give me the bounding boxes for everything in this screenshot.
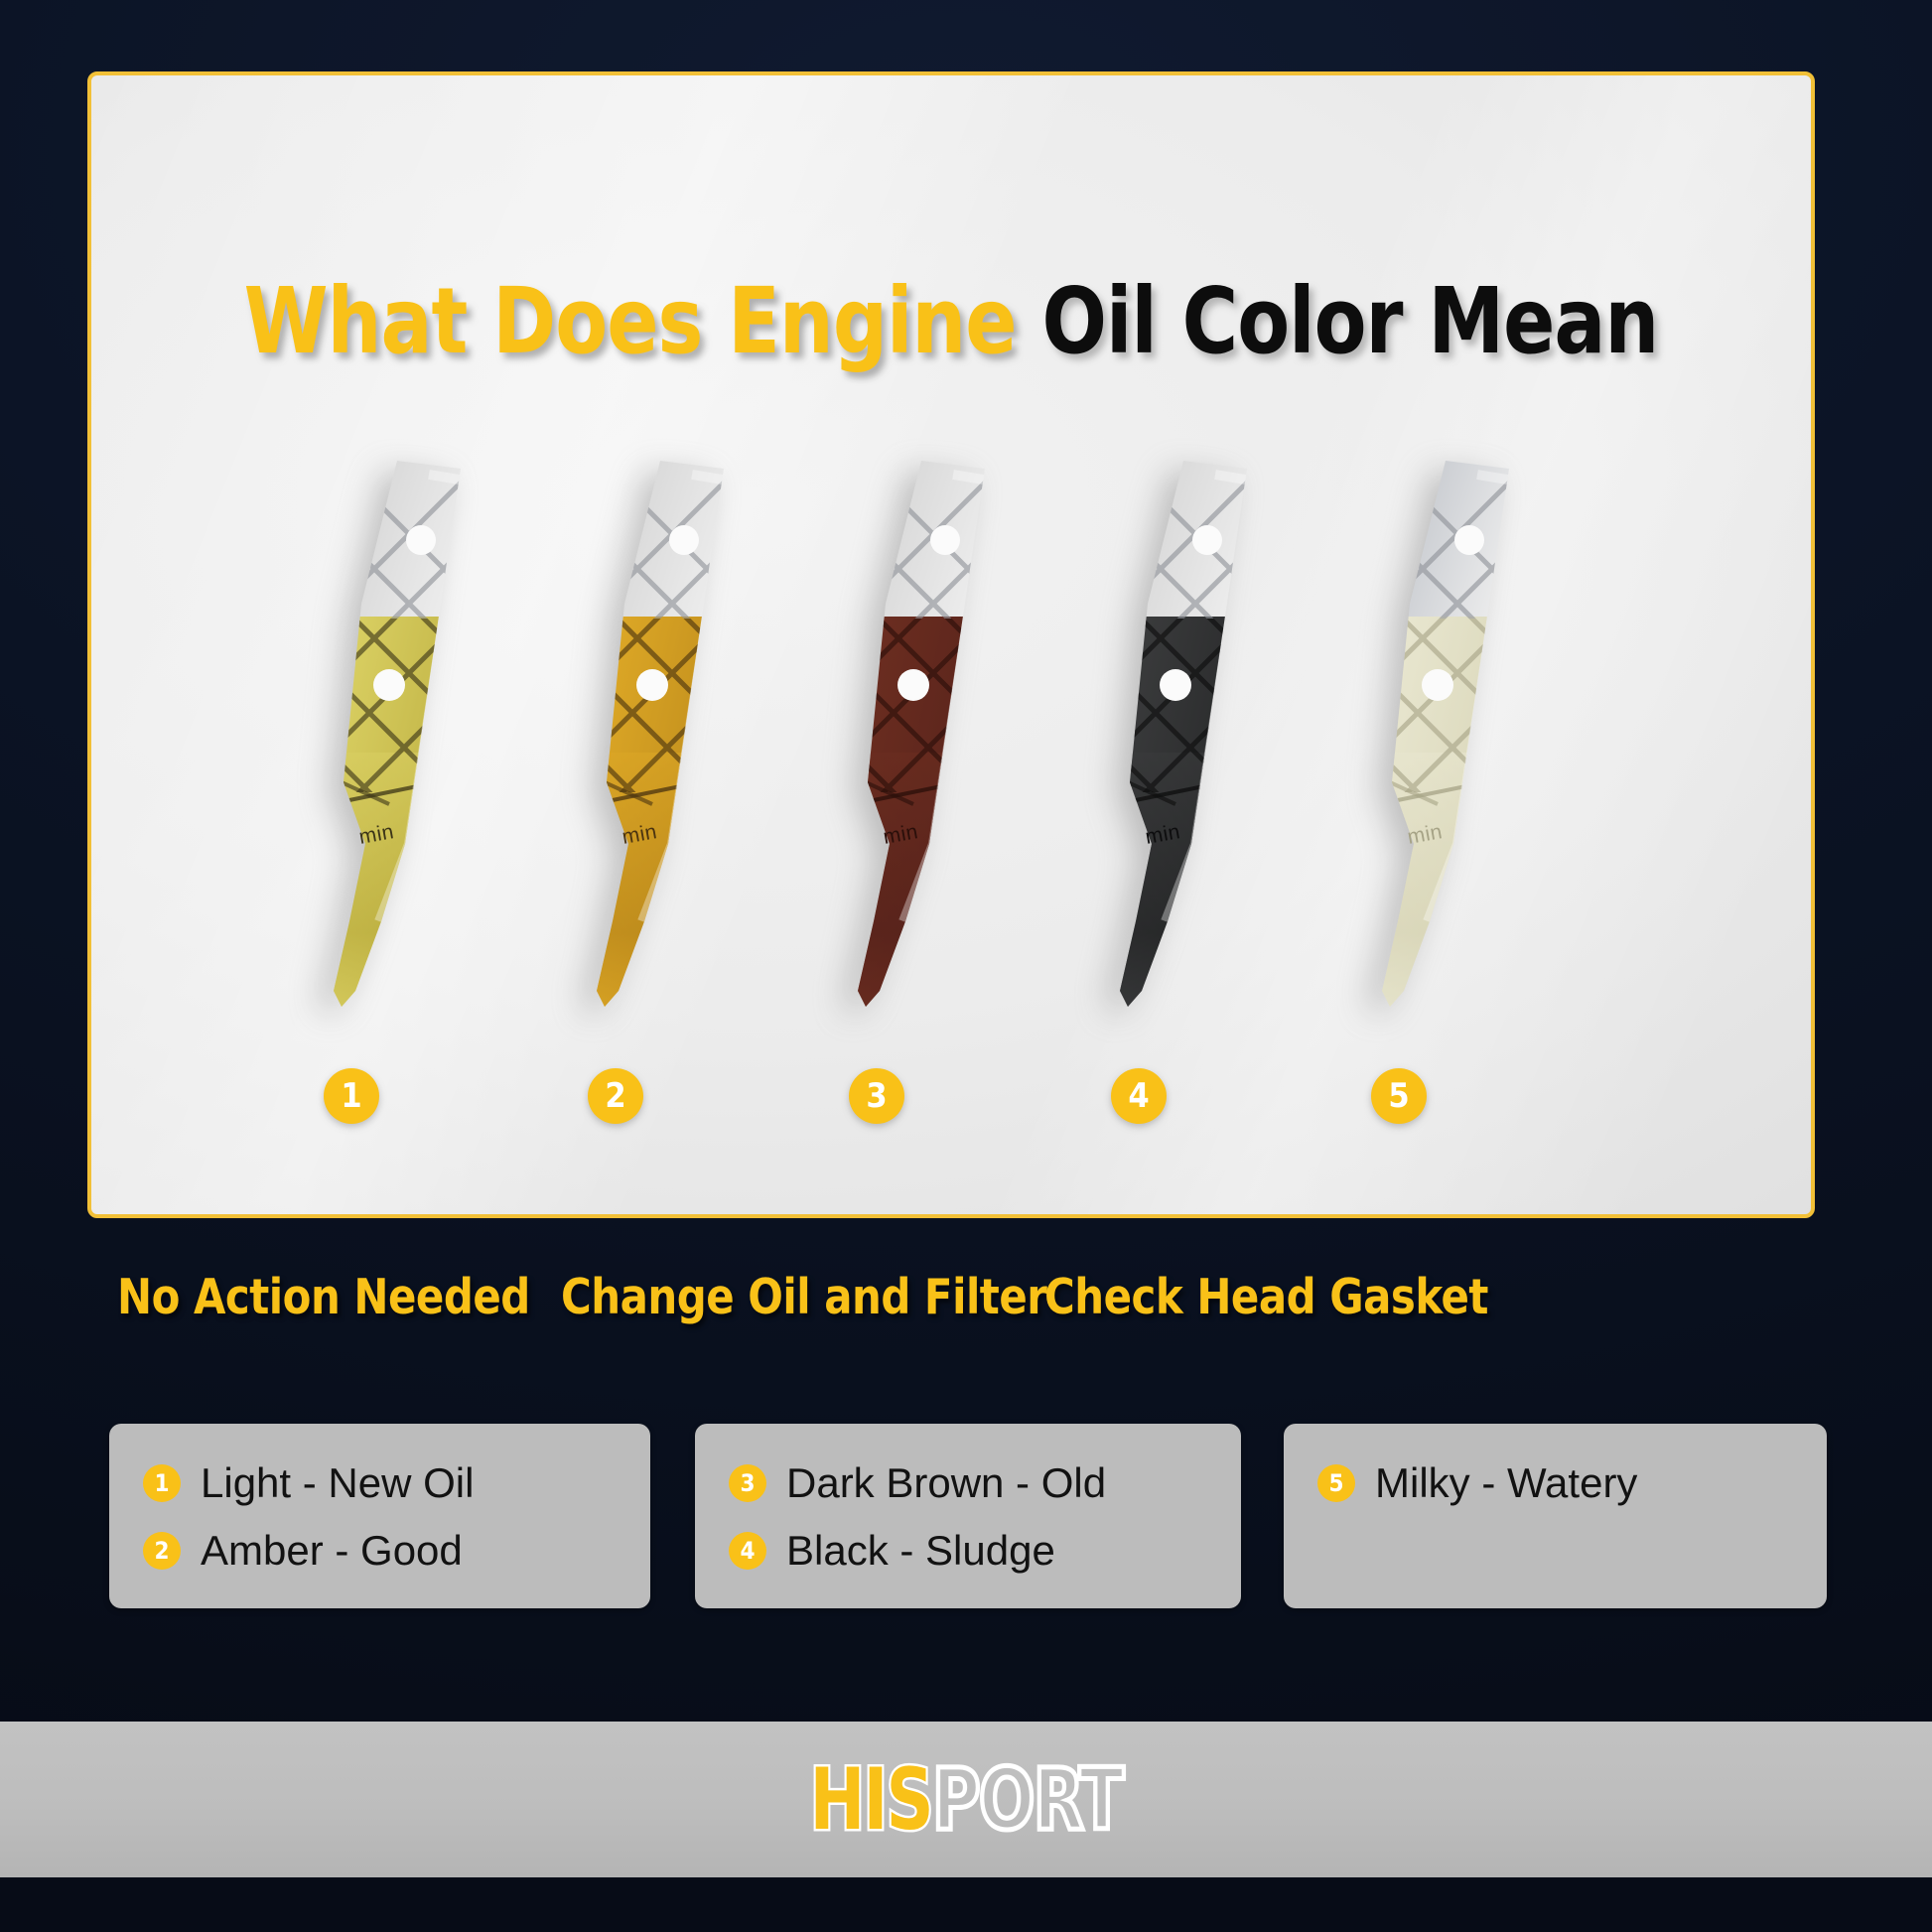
- dipstick-blade-5: min: [1279, 455, 1547, 1011]
- dipstick-hole: [636, 669, 668, 701]
- page-title-part-1: What Does Engine: [244, 268, 1017, 374]
- legend-item[interactable]: 2Amber - Good: [109, 1517, 650, 1585]
- dipstick-badge-3[interactable]: 3: [849, 1068, 904, 1124]
- legend-label: Black - Sludge: [786, 1527, 1055, 1575]
- brand-logo-fill: HIS: [810, 1750, 932, 1850]
- dipstick-hole: [373, 669, 405, 701]
- dipstick-hole: [1160, 669, 1191, 701]
- brand-logo: HISPORT: [810, 1757, 1123, 1843]
- footer-bar: HISPORT: [0, 1722, 1932, 1877]
- dipstick-hole-upper: [1192, 525, 1222, 555]
- legend-badge-1: 1: [143, 1464, 181, 1502]
- dipstick-3[interactable]: min: [755, 455, 1023, 1011]
- dipstick-hole: [897, 669, 929, 701]
- dipstick-hole: [1422, 669, 1453, 701]
- legend-card-2: 3Dark Brown - Old4Black - Sludge: [695, 1424, 1241, 1608]
- dipstick-blade-2: min: [493, 455, 761, 1011]
- legend-badge-2: 2: [143, 1532, 181, 1570]
- dipstick-badge-4[interactable]: 4: [1111, 1068, 1167, 1124]
- dipstick-4[interactable]: min: [1017, 455, 1285, 1011]
- page-title: What Does Engine Oil Color Mean: [152, 276, 1751, 367]
- legend-badge-4: 4: [729, 1532, 766, 1570]
- dipstick-hole-upper: [406, 525, 436, 555]
- legend-item[interactable]: 1Light - New Oil: [109, 1449, 650, 1517]
- dipstick-badge-2[interactable]: 2: [588, 1068, 643, 1124]
- section-heading-2: Change Oil and Filter: [561, 1269, 1046, 1325]
- dipstick-5[interactable]: min: [1279, 455, 1547, 1011]
- legend-item[interactable]: 4Black - Sludge: [695, 1517, 1241, 1585]
- legend-label: Light - New Oil: [201, 1459, 474, 1507]
- legend-item[interactable]: 3Dark Brown - Old: [695, 1449, 1241, 1517]
- dipstick-blade-1: min: [230, 455, 498, 1011]
- section-heading-3: Check Head Gasket: [1044, 1269, 1488, 1325]
- legend-label: Milky - Watery: [1375, 1459, 1637, 1507]
- dipstick-hole-upper: [669, 525, 699, 555]
- brand-logo-outline: PORT: [932, 1750, 1123, 1850]
- page-title-part-2: Oil Color Mean: [1041, 268, 1658, 374]
- section-heading-1: No Action Needed: [117, 1269, 530, 1325]
- legend-card-3: 5Milky - Watery: [1284, 1424, 1827, 1608]
- dipstick-badge-5[interactable]: 5: [1371, 1068, 1427, 1124]
- dipstick-blade-3: min: [755, 455, 1023, 1011]
- legend-badge-3: 3: [729, 1464, 766, 1502]
- legend-card-1: 1Light - New Oil2Amber - Good: [109, 1424, 650, 1608]
- dipstick-1[interactable]: min: [230, 455, 498, 1011]
- dipstick-badge-1[interactable]: 1: [324, 1068, 379, 1124]
- dipstick-2[interactable]: min: [493, 455, 761, 1011]
- dipstick-hole-upper: [1454, 525, 1484, 555]
- legend-item[interactable]: 5Milky - Watery: [1284, 1449, 1827, 1517]
- hero-panel: What Does Engine Oil Color Mean: [87, 71, 1815, 1218]
- legend-label: Dark Brown - Old: [786, 1459, 1106, 1507]
- dipstick-blade-4: min: [1017, 455, 1285, 1011]
- dipstick-hole-upper: [930, 525, 960, 555]
- legend-badge-5: 5: [1317, 1464, 1355, 1502]
- legend-label: Amber - Good: [201, 1527, 463, 1575]
